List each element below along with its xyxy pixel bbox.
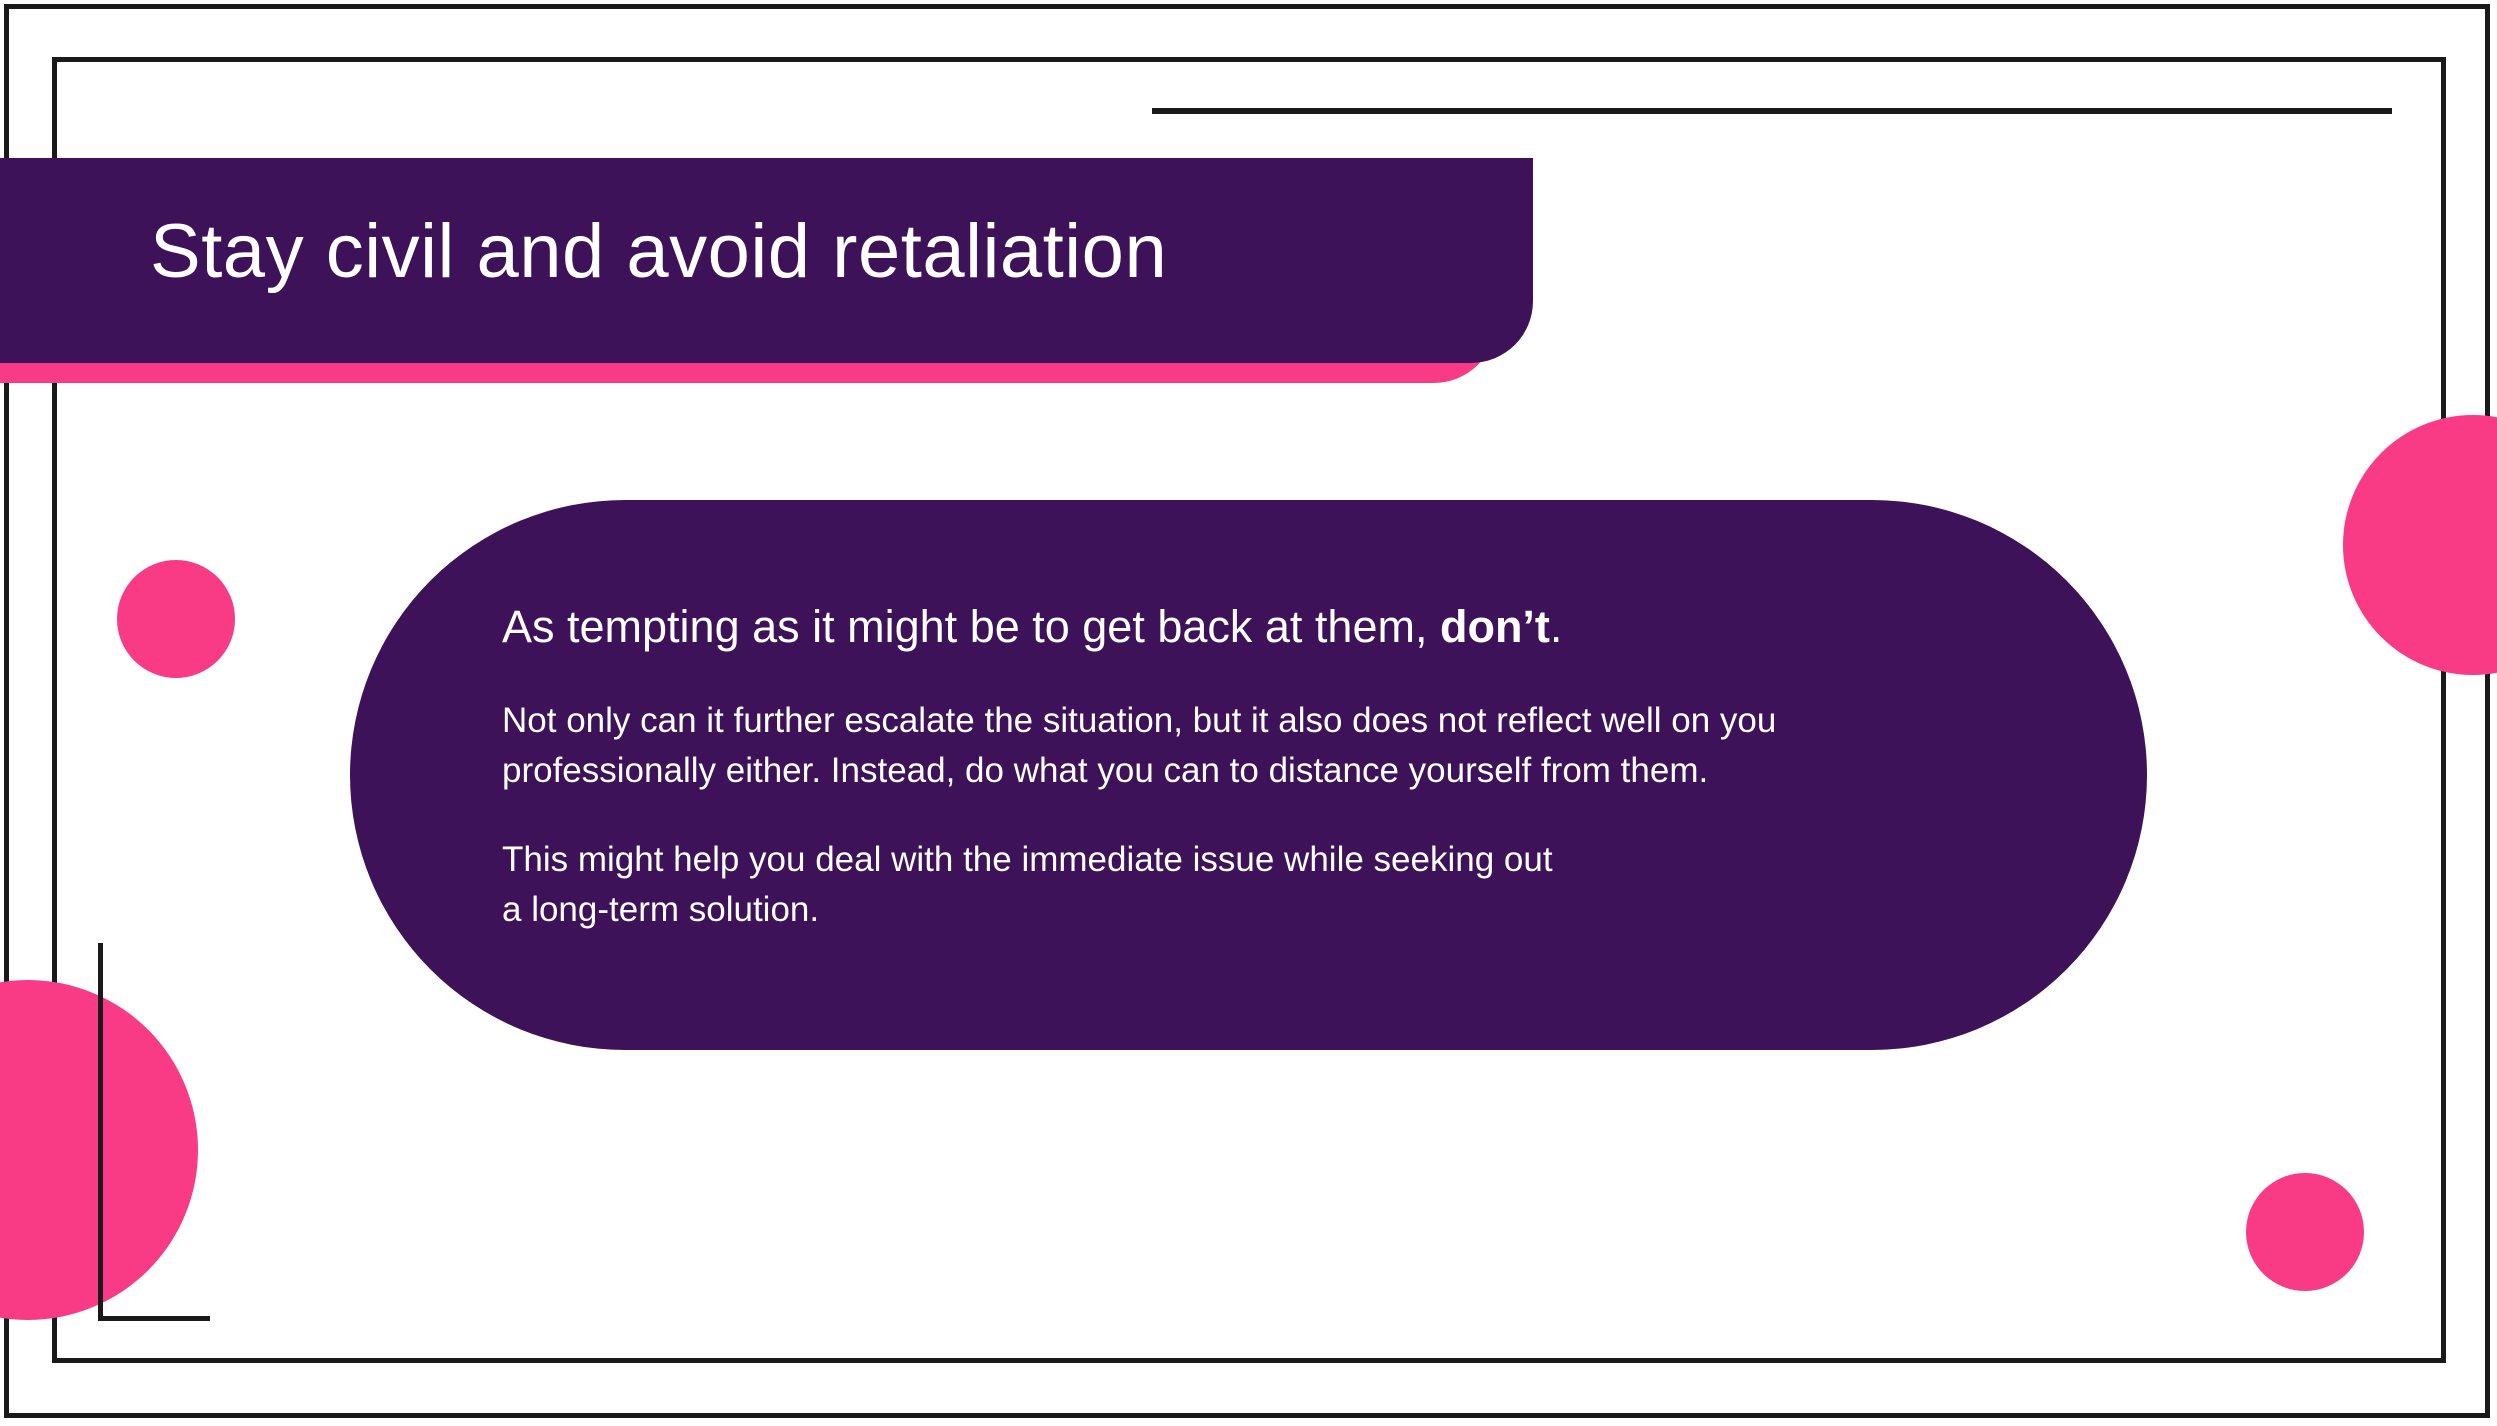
lead-prefix-text: As tempting as it might be to get back a… bbox=[502, 601, 1440, 652]
top-accent-line bbox=[1152, 108, 2392, 114]
pink-circle-right-small-icon bbox=[2246, 1173, 2364, 1291]
bottom-left-corner-bracket bbox=[98, 943, 210, 1321]
lead-emphasis-text: don’t bbox=[1440, 601, 1550, 652]
title-banner: Stay civil and avoid retaliation bbox=[0, 158, 1533, 383]
body-content: As tempting as it might be to get back a… bbox=[502, 600, 2062, 935]
lead-paragraph: As tempting as it might be to get back a… bbox=[502, 600, 2062, 654]
paragraph-3-line-1: This might help you deal with the immedi… bbox=[502, 835, 2062, 885]
body-panel: As tempting as it might be to get back a… bbox=[350, 500, 2147, 1050]
paragraph-2-line-2: professionally either. Instead, do what … bbox=[502, 746, 2062, 796]
paragraph-3-line-2: a long-term solution. bbox=[502, 885, 2062, 935]
paragraph-2-line-1: Not only can it further escalate the sit… bbox=[502, 696, 2062, 746]
slide-canvas: Stay civil and avoid retaliation As temp… bbox=[0, 0, 2497, 1426]
paragraph-3: This might help you deal with the immedi… bbox=[502, 835, 2062, 934]
lead-suffix-text: . bbox=[1550, 601, 1563, 652]
slide-title: Stay civil and avoid retaliation bbox=[150, 208, 1167, 295]
pink-circle-left-small-icon bbox=[117, 560, 235, 678]
paragraph-2: Not only can it further escalate the sit… bbox=[502, 696, 2062, 795]
